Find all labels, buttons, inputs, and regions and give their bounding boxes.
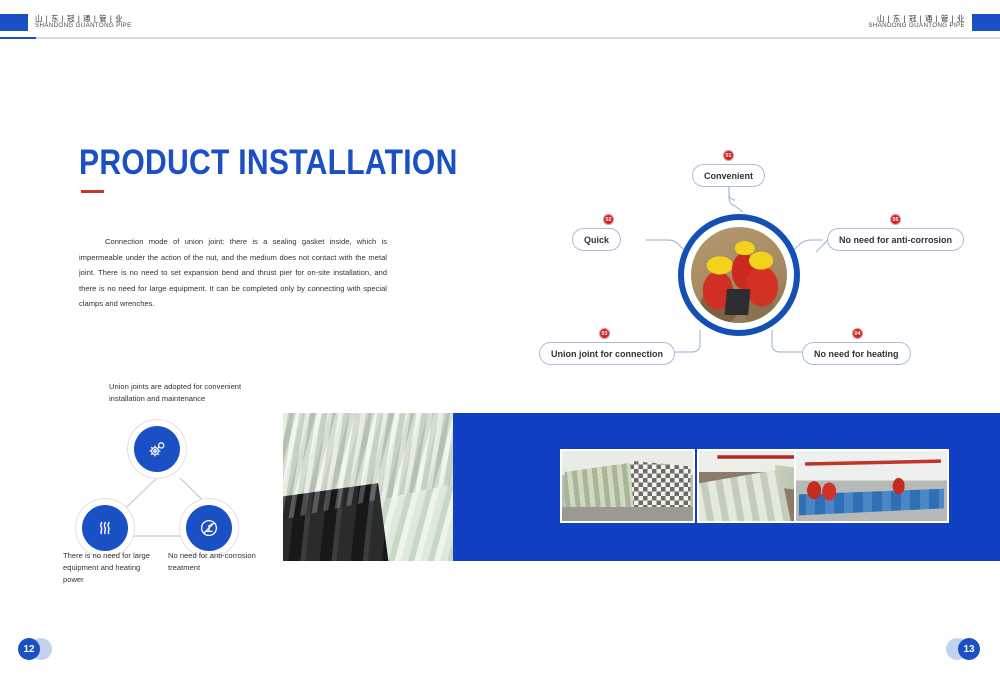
radial-badge-2: 02 [603,214,614,225]
radial-pill-3[interactable]: Union joint for connection [539,342,675,365]
radial-pill-5-label: No need for anti-corrosion [839,235,952,245]
benefits-triangle: Union joints are adopted for convenient … [60,378,290,578]
radial-pill-2[interactable]: Quick [572,228,621,251]
band-thumb-3 [794,449,949,523]
logo-right: 山 | 东 | 冠 | 通 | 管 | 业 SHANDONG GUANTONG … [868,14,1000,31]
band-main-photo [283,413,453,561]
radial-pill-4-label: No need for heating [814,349,899,359]
triangle-node-convenient[interactable] [134,426,180,472]
triangle-node-no-corrosion[interactable] [186,505,232,551]
brochure-page: 山 | 东 | 冠 | 通 | 管 | 业 SHANDONG GUANTONG … [0,0,1000,679]
radial-badge-3: 03 [599,328,610,339]
media-band [283,413,1000,561]
logo-english-name: SHANDONG GUANTONG PIPE [35,23,132,30]
band-thumb-1 [560,449,695,523]
triangle-node-no-heating[interactable] [82,505,128,551]
page-number-right: 13 [958,638,980,660]
triangle-caption-left: There is no need for large equipment and… [63,550,161,585]
radial-pill-1-label: Convenient [704,171,753,181]
heat-waves-icon [94,517,116,539]
logo-english-name-right: SHANDONG GUANTONG PIPE [868,23,965,30]
no-corrosion-icon [197,516,221,540]
radial-pill-4[interactable]: No need for heating [802,342,911,365]
radial-pill-2-label: Quick [584,235,609,245]
radial-pill-1[interactable]: Convenient [692,164,765,187]
radial-pill-3-label: Union joint for connection [551,349,663,359]
triangle-caption-top: Union joints are adopted for convenient … [109,381,259,405]
hub-photo [691,227,787,323]
radial-badge-5: 05 [890,214,901,225]
radial-badge-4: 04 [852,328,863,339]
triangle-caption-right: No need for anti-corrosion treatment [168,550,268,574]
features-radial-diagram: Convenient 01 Quick 02 Union joint for c… [530,140,1000,370]
radial-pill-5[interactable]: No need for anti-corrosion [827,228,964,251]
gear-icon [145,437,169,461]
logo-left: 山 | 东 | 冠 | 通 | 管 | 业 SHANDONG GUANTONG … [0,14,132,31]
logo-block-icon [0,14,28,31]
title-underline [81,190,104,193]
page-title: PRODUCT INSTALLATION [79,143,458,183]
logo-block-icon-right [972,14,1000,31]
header-divider [0,37,1000,39]
radial-badge-1: 01 [723,150,734,161]
page-number-left: 12 [18,638,40,660]
radial-hub [678,214,800,336]
body-paragraph: Connection mode of union joint: there is… [79,234,387,312]
